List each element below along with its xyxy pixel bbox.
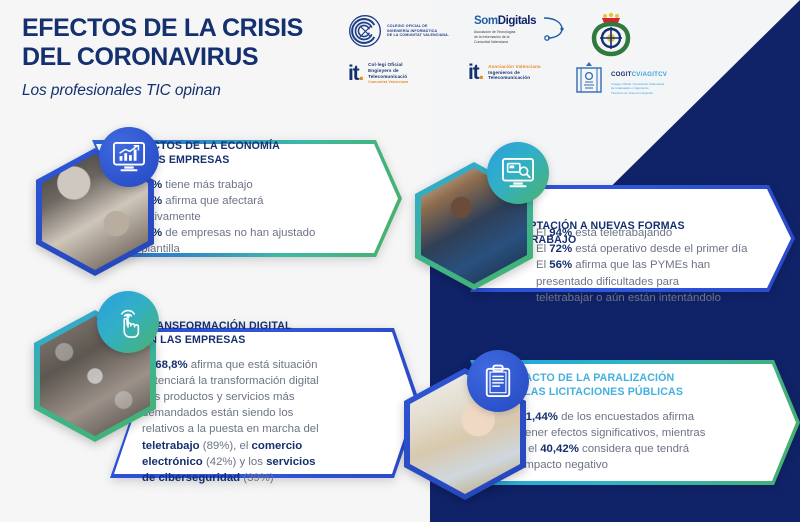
coii-spiral-icon xyxy=(348,14,382,48)
somdigitals-logo: SomDigitals Asociación de Tecnologías de… xyxy=(474,12,568,45)
colegi-oficial-enginyers-telecomunicacio-logo: it. Col·legi Oficial Enginyers de Teleco… xyxy=(348,62,408,84)
card-title: IMPACTO DE LA PARALIZACIÓN DE LAS LICITA… xyxy=(506,372,770,400)
card-body-text: El 51,44% de los encuestados afirma no t… xyxy=(506,409,770,474)
coit-crest-logo xyxy=(588,10,634,58)
card-content: TRANSFORMACIÓN DIGITAL EN LAS EMPRESAS E… xyxy=(110,328,420,478)
card-title: TRANSFORMACIÓN DIGITAL EN LAS EMPRESAS xyxy=(142,320,390,348)
chart-monitor-icon xyxy=(112,141,146,173)
desktop-window-icon-badge xyxy=(487,142,549,204)
page-subtitle: Los profesionales TIC opinan xyxy=(22,82,352,100)
desktop-window-icon xyxy=(501,157,535,189)
somdigitals-wordmark: SomDigitals Asociación de Tecnologías de… xyxy=(474,12,536,45)
it-wordmark-1: it. xyxy=(348,63,363,84)
cogiticv-crest-icon xyxy=(572,60,606,98)
clipboard-icon xyxy=(483,364,513,398)
card-body-text: El 68,8% afirma que está situación poten… xyxy=(142,357,390,487)
logo-strip: COLEGIO OFICIAL DE INGENIERÍA INFORMÁTIC… xyxy=(344,10,654,106)
avit-logo-text: Asociación Valenciana Ingenieros de Tele… xyxy=(488,64,541,82)
page-title-line2: DEL CORONAVIRUS xyxy=(22,43,352,72)
card-nuevas-formas-text: El 94% está teletrabajando El 72% está o… xyxy=(536,225,798,306)
somdigitals-node-icon xyxy=(538,14,568,44)
clipboard-icon-badge xyxy=(467,350,529,412)
colegio-oficial-ingenieria-informatica-logo: COLEGIO OFICIAL DE INGENIERÍA INFORMÁTIC… xyxy=(348,14,449,48)
coii-logo-text: COLEGIO OFICIAL DE INGENIERÍA INFORMÁTIC… xyxy=(387,24,449,38)
page-title-line1: EFECTOS DE LA CRISIS xyxy=(22,14,352,43)
asociacion-valenciana-ingenieros-telecomunicacion-logo: it. Asociación Valenciana Ingenieros de … xyxy=(468,62,541,83)
header: EFECTOS DE LA CRISIS DEL CORONAVIRUS Los… xyxy=(22,14,352,100)
card-title: IMPACTOS DE LA ECONOMÍA DE LAS EMPRESAS xyxy=(126,140,368,168)
cogiticv-logo-text: COGITCV/AGITCV Colegio Oficial / Asociac… xyxy=(611,63,667,95)
it-wordmark-2: it. xyxy=(468,62,483,83)
infographic-canvas: EFECTOS DE LA CRISIS DEL CORONAVIRUS Los… xyxy=(0,0,800,522)
cogiticv-agiticv-logo: COGITCV/AGITCV Colegio Oficial / Asociac… xyxy=(572,60,667,98)
chart-monitor-icon-badge xyxy=(99,127,159,187)
touch-signal-icon-badge xyxy=(97,291,159,353)
page-title: EFECTOS DE LA CRISIS DEL CORONAVIRUS xyxy=(22,14,352,71)
card-body-text: El 83% tiene más trabajo El 73% afirma q… xyxy=(126,177,368,258)
card-transformacion-digital: TRANSFORMACIÓN DIGITAL EN LAS EMPRESAS E… xyxy=(110,328,420,478)
touch-signal-icon xyxy=(112,305,144,339)
coetcv-logo-text: Col·legi Oficial Enginyers de Telecomuni… xyxy=(368,62,408,84)
royal-crest-icon xyxy=(588,10,634,58)
